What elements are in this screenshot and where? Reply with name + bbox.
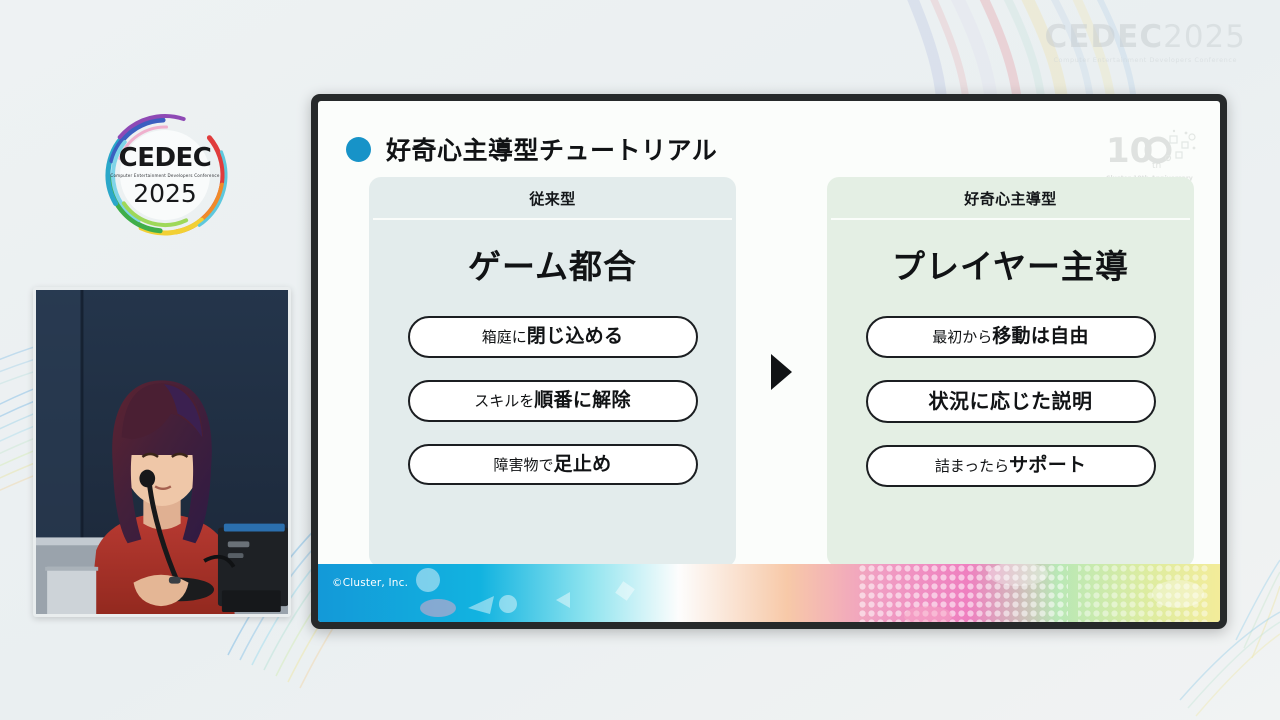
cedec-logo-text: CEDEC Computer Entertainment Developers … — [100, 110, 230, 240]
comparison-arrow — [736, 177, 827, 567]
cedec-watermark-title: CEDEC2025 — [1045, 22, 1247, 53]
speaker-video-image — [36, 290, 288, 614]
cedec-watermark: CEDEC2025 Computer Entertainment Develop… — [1045, 22, 1247, 64]
pill-emphasis: 状況に応じた説明 — [929, 389, 1093, 413]
pill-item: 障害物で足止め — [408, 444, 698, 486]
slide-title-text: 好奇心主導型チュートリアル — [386, 131, 717, 167]
pill-lead: 詰まったら — [935, 457, 1009, 475]
cedec-watermark-brand: CEDEC — [1045, 19, 1164, 55]
panel-conventional-pills: 箱庭に閉じ込める スキルを順番に解除 障害物で足止め — [369, 316, 736, 485]
pill-emphasis: サポート — [1009, 454, 1086, 476]
panel-divider — [831, 218, 1190, 220]
pill-lead: スキルを — [474, 392, 534, 410]
cedec-logo-subtitle: Computer Entertainment Developers Confer… — [110, 173, 219, 178]
pill-lead: 最初から — [932, 328, 992, 346]
panel-divider — [373, 218, 732, 220]
presentation-slide: 好奇心主導型チュートリアル 10 th — [318, 101, 1220, 622]
cluster-anniversary-mark: 10 th Cluster 10th Anniversary — [1106, 128, 1198, 182]
svg-text:th: th — [1152, 161, 1161, 171]
panel-conventional-header: 従来型 — [529, 177, 575, 218]
speaker-video-feed[interactable] — [33, 287, 291, 617]
footer-copyright: ©Cluster, Inc. — [332, 577, 408, 589]
pill-emphasis: 足止め — [554, 453, 612, 475]
cedec-round-logo: CEDEC Computer Entertainment Developers … — [100, 110, 230, 240]
pill-item: スキルを順番に解除 — [408, 380, 698, 422]
pill-lead: 障害物で — [494, 456, 554, 474]
panel-curiosity-headline: プレイヤー主導 — [892, 240, 1129, 288]
pill-item: 詰まったらサポート — [866, 445, 1156, 487]
comparison-section: 従来型 ゲーム都合 箱庭に閉じ込める スキルを順番に解除 障害物で足止め — [369, 177, 1194, 567]
pill-emphasis: 閉じ込める — [527, 325, 624, 347]
cedec-logo-year: 2025 — [133, 181, 197, 206]
panel-conventional-headline: ゲーム都合 — [468, 240, 637, 288]
panel-curiosity-pills: 最初から移動は自由 状況に応じた説明 詰まったらサポート — [827, 316, 1194, 487]
cedec-logo-name: CEDEC — [119, 145, 212, 171]
bullet-dot-icon — [346, 137, 371, 162]
pill-item: 最初から移動は自由 — [866, 316, 1156, 358]
anniversary-10th-icon: 10 th — [1106, 128, 1198, 174]
pill-emphasis: 順番に解除 — [534, 389, 631, 411]
cedec-watermark-year: 2025 — [1163, 19, 1246, 55]
panel-curiosity-header: 好奇心主導型 — [964, 177, 1056, 218]
panel-curiosity-driven: 好奇心主導型 プレイヤー主導 最初から移動は自由 状況に応じた説明 詰まったらサ… — [827, 177, 1194, 567]
pill-item: 状況に応じた説明 — [866, 380, 1156, 423]
arrow-right-icon — [771, 354, 792, 390]
pill-emphasis: 移動は自由 — [992, 325, 1089, 347]
pill-lead: 箱庭に — [482, 328, 527, 346]
pill-item: 箱庭に閉じ込める — [408, 316, 698, 358]
footer-graphic — [318, 564, 1220, 622]
cedec-watermark-subtitle: Computer Entertainment Developers Confer… — [1045, 56, 1247, 64]
presentation-slide-frame: 好奇心主導型チュートリアル 10 th — [311, 94, 1227, 629]
slide-footer-band: ©Cluster, Inc. — [318, 564, 1220, 622]
panel-conventional: 従来型 ゲーム都合 箱庭に閉じ込める スキルを順番に解除 障害物で足止め — [369, 177, 736, 567]
slide-title: 好奇心主導型チュートリアル — [346, 131, 717, 167]
